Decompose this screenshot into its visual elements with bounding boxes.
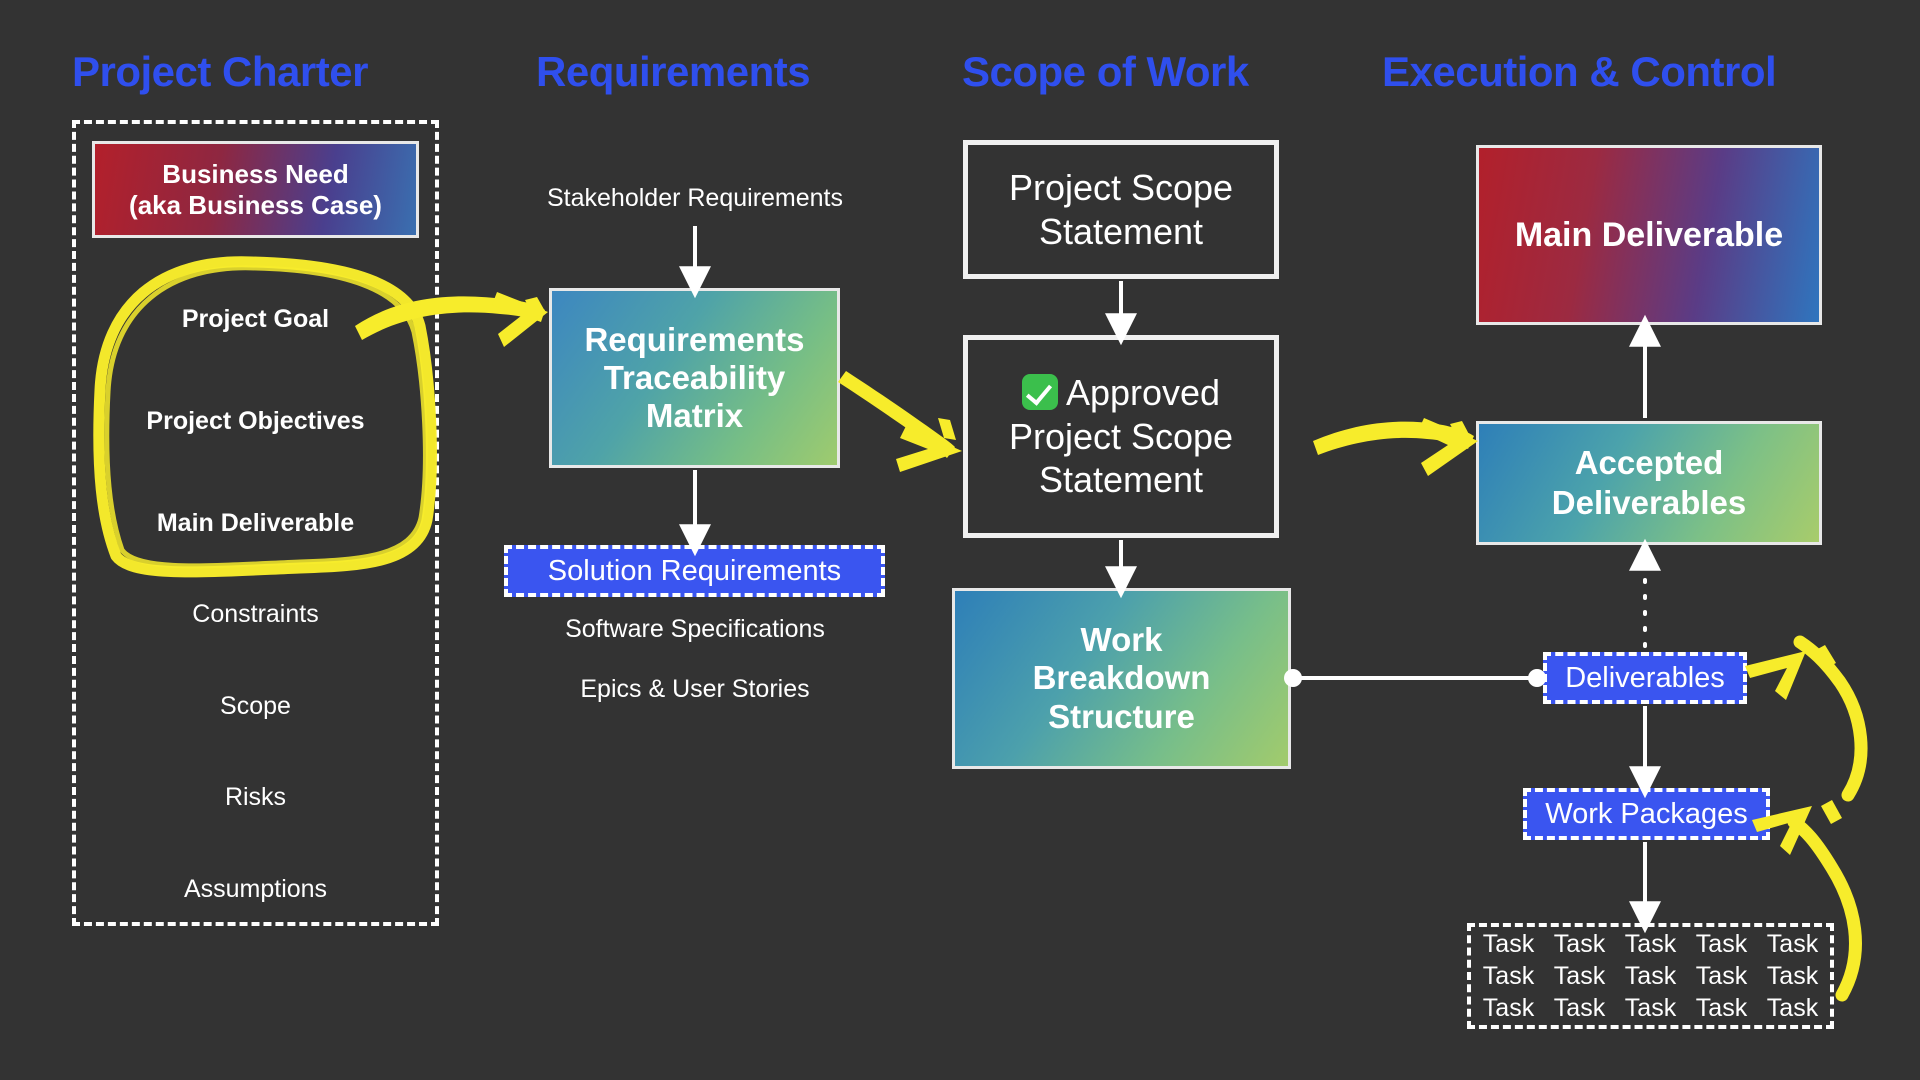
approved-line1: Approved bbox=[1066, 372, 1220, 413]
work-breakdown-structure-box[interactable]: Work Breakdown Structure bbox=[952, 588, 1291, 769]
charter-item-project-goal: Project Goal bbox=[72, 305, 439, 334]
rtm-line1: Requirements bbox=[584, 321, 804, 359]
column-title-scope-of-work: Scope of Work bbox=[962, 48, 1249, 96]
deliverables-box[interactable]: Deliverables bbox=[1543, 652, 1747, 704]
column-title-execution-control: Execution & Control bbox=[1382, 48, 1776, 96]
task-cell: Task bbox=[1767, 994, 1818, 1023]
task-cell: Task bbox=[1625, 930, 1676, 959]
task-cell: Task bbox=[1767, 930, 1818, 959]
main-deliverable-box[interactable]: Main Deliverable bbox=[1476, 145, 1822, 325]
task-cell: Task bbox=[1696, 962, 1747, 991]
pss-line1: Project Scope bbox=[1009, 166, 1233, 209]
pss-line2: Statement bbox=[1009, 210, 1233, 253]
rtm-line3: Matrix bbox=[584, 397, 804, 435]
project-scope-statement-box[interactable]: Project Scope Statement bbox=[963, 140, 1279, 279]
approved-line2: Project Scope bbox=[1009, 415, 1233, 459]
task-cell: Task bbox=[1483, 994, 1534, 1023]
task-cell: Task bbox=[1625, 962, 1676, 991]
charter-item-assumptions: Assumptions bbox=[72, 875, 439, 904]
task-cell: Task bbox=[1625, 994, 1676, 1023]
charter-item-project-objectives: Project Objectives bbox=[72, 407, 439, 436]
approved-line3: Statement bbox=[1009, 458, 1233, 502]
requirements-traceability-matrix-box[interactable]: Requirements Traceability Matrix bbox=[549, 288, 840, 468]
task-cell: Task bbox=[1696, 930, 1747, 959]
accepted-deliverables-box[interactable]: Accepted Deliverables bbox=[1476, 421, 1822, 545]
task-cell: Task bbox=[1696, 994, 1747, 1023]
diagram-canvas: Project Charter Requirements Scope of Wo… bbox=[0, 0, 1920, 1080]
business-need-box[interactable]: Business Need (aka Business Case) bbox=[92, 141, 419, 238]
requirements-sub-software-specifications: Software Specifications bbox=[470, 615, 920, 644]
task-cell: Task bbox=[1767, 962, 1818, 991]
task-cell: Task bbox=[1483, 962, 1534, 991]
task-cell: Task bbox=[1554, 962, 1605, 991]
business-need-line1: Business Need bbox=[162, 159, 348, 190]
charter-item-main-deliverable: Main Deliverable bbox=[72, 509, 439, 538]
business-need-line2: (aka Business Case) bbox=[129, 190, 382, 221]
task-cell: Task bbox=[1554, 930, 1605, 959]
column-title-requirements: Requirements bbox=[536, 48, 810, 96]
wbs-line2: Breakdown bbox=[1033, 659, 1211, 698]
accepted-deliverables-line2: Deliverables bbox=[1552, 483, 1746, 523]
rtm-line2: Traceability bbox=[584, 359, 804, 397]
accepted-deliverables-line1: Accepted bbox=[1552, 443, 1746, 483]
stakeholder-requirements-label: Stakeholder Requirements bbox=[520, 184, 870, 213]
task-cell: Task bbox=[1483, 930, 1534, 959]
wbs-line3: Structure bbox=[1033, 698, 1211, 737]
task-cell: Task bbox=[1554, 994, 1605, 1023]
check-mark-icon bbox=[1022, 374, 1058, 410]
highlight-arrow-approved-to-accepted bbox=[1313, 418, 1478, 476]
requirements-sub-epics-user-stories: Epics & User Stories bbox=[470, 675, 920, 704]
charter-item-risks: Risks bbox=[72, 783, 439, 812]
charter-item-constraints: Constraints bbox=[72, 600, 439, 629]
task-grid: TaskTaskTaskTaskTaskTaskTaskTaskTaskTask… bbox=[1467, 923, 1834, 1029]
highlight-arrow-rtm-to-approved bbox=[838, 371, 962, 472]
approved-project-scope-statement-box[interactable]: Approved Project Scope Statement bbox=[963, 335, 1279, 538]
wbs-line1: Work bbox=[1033, 621, 1211, 660]
solution-requirements-box[interactable]: Solution Requirements bbox=[504, 545, 885, 597]
work-packages-box[interactable]: Work Packages bbox=[1523, 788, 1770, 840]
charter-item-scope: Scope bbox=[72, 692, 439, 721]
column-title-project-charter: Project Charter bbox=[72, 48, 368, 96]
